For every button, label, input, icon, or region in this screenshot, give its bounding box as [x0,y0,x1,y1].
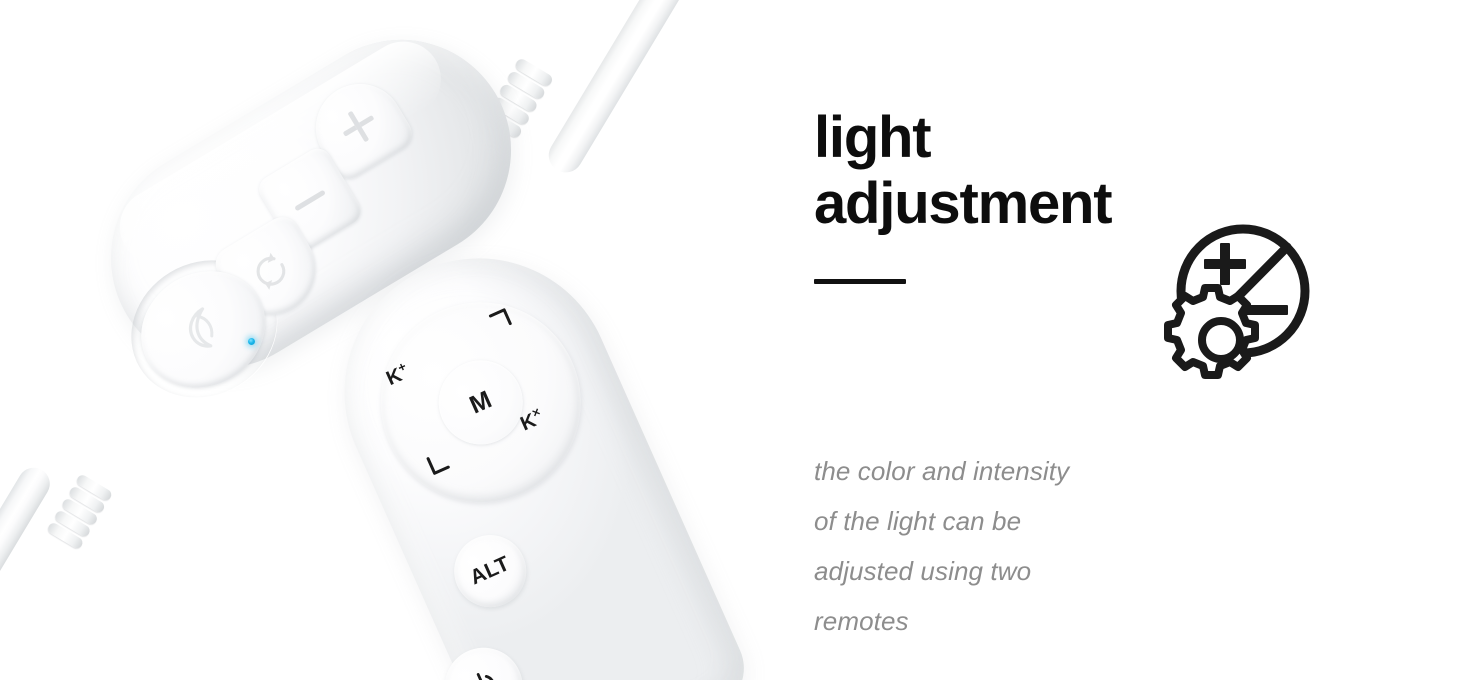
description-text: the color and intensity of the light can… [814,446,1214,646]
plus-icon [335,103,382,150]
description-line-3: adjusted using two [814,546,1214,596]
promo-banner: K+ K× M ALT [0,0,1460,680]
description-line-2: of the light can be [814,496,1214,546]
brightness-adjust-gear-icon [1130,215,1320,400]
alt-button-label: ALT [467,552,514,591]
divider [814,279,906,284]
power-moon-icon [165,291,242,368]
description-line-1: the color and intensity [814,446,1214,496]
status-led [248,338,255,345]
headline-line-1: light [814,105,1234,171]
text-panel: light adjustment the color and intensity… [780,0,1460,680]
minus-icon [294,189,326,211]
dpad-center-button[interactable]: M [425,347,536,458]
dpad-center-label: M [465,385,496,420]
product-photo: K+ K× M ALT [0,0,780,680]
cable-lower [0,462,56,680]
chevron-up-right-icon [486,306,515,335]
strain-relief-bottom [45,473,114,553]
description-line-4: remotes [814,596,1214,646]
chevron-down-left-icon [425,449,454,478]
power-icon [460,663,508,680]
cable-upper [542,0,726,179]
